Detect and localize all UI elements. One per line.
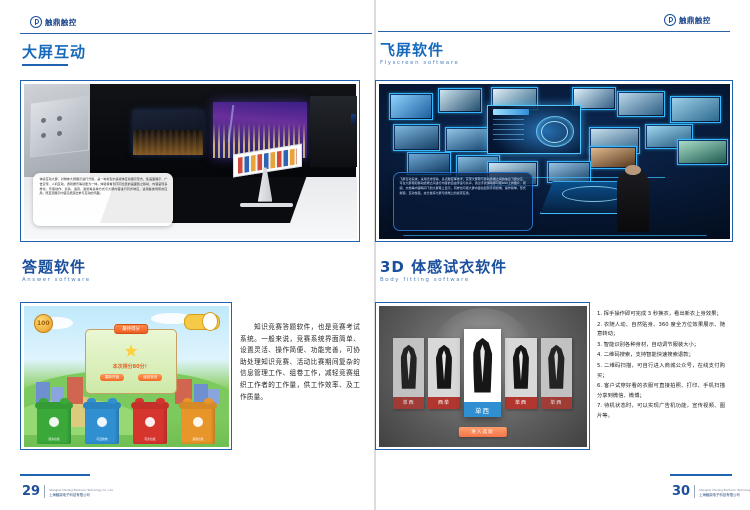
flyscreen-illustration: 飞屏互动系统，采用无线传输、多点触控等技术，实现大屏幕与移动终端之间的信息飞屏交… [379, 84, 730, 239]
section-title-en: Body fitting software [380, 277, 560, 283]
footer-right: 30 Shanghai Chuding Electronic Technolog… [672, 485, 750, 498]
suit-card-label: 单西 [464, 402, 501, 417]
suit-card-selected[interactable]: 单西 [464, 329, 501, 417]
suit-card-label: 单西 [505, 397, 536, 409]
header-rule-left [20, 33, 372, 34]
section-title-cn: 3D 体感试衣软件 [380, 259, 560, 276]
page-number: 29 [22, 485, 40, 498]
feature-item: 7. 待机状态时，可以实现广告机功能，宣传视频、图片等。 [597, 402, 725, 421]
right-page: 触鼎触控 飞屏软件 Flyscreen software [375, 0, 750, 510]
circle-p-logo-icon [30, 16, 42, 28]
section-title-cn: 大屏互动 [22, 44, 132, 61]
brand-name: 触鼎触控 [679, 15, 711, 26]
showroom-illustration: 体感互动大屏，对物体大屏展示进行升级，是一种新型的多媒体互动展示形式，集画面展示… [24, 84, 357, 239]
left-page: 触鼎触控 大屏互动 [0, 0, 375, 510]
title-accent-bar [22, 64, 68, 66]
footer-rule-left [20, 474, 90, 476]
feature-item: 5. 二维码扫描，可自行进入商城公众号，在线支付购买； [597, 362, 725, 381]
score-board-banner: 最终得分 [114, 324, 148, 334]
hero-screen-title [493, 109, 530, 115]
feature-item: 2. 衣随人动、自然贴身、360 度全方位效果展示、随意转动； [597, 321, 725, 340]
enter-selection-button[interactable]: 进入选款 [458, 427, 506, 437]
restart-button[interactable]: 重新开始 [100, 374, 124, 381]
section-heading-answer: 答题软件 Answer software [22, 259, 172, 283]
suit-card[interactable]: 西单 [428, 338, 459, 409]
brand-name: 触鼎触控 [45, 17, 77, 28]
brand-logo-left: 触鼎触控 [30, 16, 77, 28]
section-title-en: Answer software [22, 277, 172, 283]
section-heading-big-screen: 大屏互动 [22, 44, 132, 66]
page-number: 30 [672, 485, 690, 498]
score-text: 本次得分80分！ [86, 363, 176, 370]
showroom-image-frame: 体感互动大屏，对物体大屏展示进行升级，是一种新型的多媒体互动展示形式，集画面展示… [20, 80, 360, 242]
suit-card-list: 单西 西单 单西 单西 [379, 325, 587, 421]
bin-other-waste[interactable]: 其他垃圾 [181, 402, 216, 444]
feature-item: 3. 智能识别各种身材，自动调节服装大小； [597, 341, 725, 351]
suit-card-label: 单西 [541, 397, 572, 409]
bin-label: 厨余垃圾 [37, 437, 72, 441]
bin-label: 可回收物 [85, 437, 120, 441]
company-name-cn: 上海触鼎电子科技有限公司 [49, 493, 113, 498]
flyscreen-caption-card: 飞屏互动系统，采用无线传输、多点触控等技术，实现大屏幕与移动终端之间的信息飞屏交… [393, 172, 533, 231]
suit-card[interactable]: 单西 [541, 338, 572, 409]
suit-card-label: 西单 [428, 397, 459, 409]
touch-kiosk [230, 149, 303, 208]
showroom-caption-text: 体感互动大屏，对物体大屏展示进行升级，是一种新型的多媒体互动展示形式，集画面展示… [39, 177, 167, 195]
footer-left: 29 Shanghai Chuding Electronic Technolog… [22, 485, 113, 498]
section-title-en: Flyscreen software [380, 60, 520, 66]
feature-item: 6. 客户试穿好看的衣服可直接拍照、打印、手机扫描分享到微信、微博； [597, 382, 725, 401]
coin-icon: 100 [34, 314, 53, 333]
coin-count: 100 [35, 315, 52, 332]
flyscreen-image-frame: 飞屏互动系统，采用无线传输、多点触控等技术，实现大屏幕与移动终端之间的信息飞屏交… [375, 80, 733, 242]
company-name-cn: 上海触鼎电子科技有限公司 [699, 493, 750, 498]
section-heading-fitting: 3D 体感试衣软件 Body fitting software [380, 259, 560, 283]
header-rule-right [378, 31, 730, 32]
feature-item: 4. 二维码搜索，支持智能快速搜索退款； [597, 351, 725, 361]
section-title-cn: 答题软件 [22, 259, 172, 276]
home-button[interactable]: 返回首页 [138, 374, 162, 381]
visitor-figure [617, 170, 649, 232]
recycle-bins: 厨余垃圾 可回收物 有害垃圾 其他垃圾 [24, 393, 229, 444]
showroom-caption-card: 体感互动大屏，对物体大屏展示进行升级，是一种新型的多媒体互动展示形式，集画面展示… [33, 173, 173, 226]
bin-kitchen-waste[interactable]: 厨余垃圾 [37, 402, 72, 444]
fitting-image-frame: 单西 西单 单西 单西 [375, 302, 590, 450]
section-title-cn: 飞屏软件 [380, 42, 520, 59]
suit-card[interactable]: 单西 [505, 338, 536, 409]
star-icon [125, 344, 138, 357]
fitting-illustration: 单西 西单 单西 单西 [379, 306, 587, 447]
hero-screen [487, 105, 580, 154]
suit-card-label: 单西 [393, 397, 424, 409]
bin-hazardous[interactable]: 有害垃圾 [133, 402, 168, 444]
footer-rule-right [670, 474, 732, 476]
suit-card[interactable]: 单西 [393, 338, 424, 409]
fitting-feature-list: 1. 挥手操作即可完成 3 秒换衣，看出新衣上身效果； 2. 衣随人动、自然贴身… [597, 310, 725, 423]
score-board: 最终得分 本次得分80分！ 重新开始 返回首页 [85, 329, 177, 393]
player-avatar [184, 314, 220, 330]
section-heading-flyscreen: 飞屏软件 Flyscreen software [380, 42, 520, 66]
feature-item: 1. 挥手操作即可完成 3 秒换衣，看出新衣上身效果； [597, 310, 725, 320]
brochure-spread: 触鼎触控 大屏互动 [0, 0, 750, 510]
quiz-image-frame: 100 最终得分 本次得分80分！ 重新开始 返回首页 [20, 302, 232, 450]
circle-p-logo-icon [664, 14, 676, 26]
answer-software-body: 知识竞赛答题软件，也是竞赛考试系统。一般来说，竞赛系统界面简单、设置灵活、操作简… [240, 322, 360, 403]
brand-logo-right: 触鼎触控 [664, 14, 711, 26]
bin-recyclable[interactable]: 可回收物 [85, 402, 120, 444]
quiz-game-illustration: 100 最终得分 本次得分80分！ 重新开始 返回首页 [24, 306, 229, 447]
flyscreen-caption-text: 飞屏互动系统，采用无线传输、多点触控等技术，实现大屏幕与移动终端之间的信息飞屏交… [400, 177, 526, 195]
bin-label: 有害垃圾 [133, 437, 168, 441]
bin-label: 其他垃圾 [181, 437, 216, 441]
